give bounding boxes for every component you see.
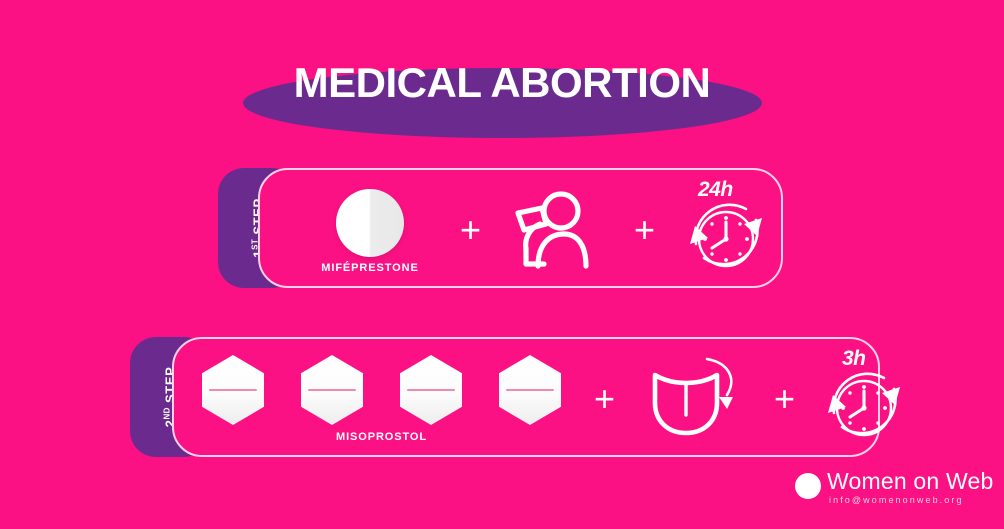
pill-score-line xyxy=(506,389,554,391)
step-2-plus-1: + xyxy=(594,381,615,417)
wait-label-3h: 3h xyxy=(842,347,866,371)
misoprostol-label: MISOPROSTOL xyxy=(202,431,561,443)
logo[interactable]: Women on Web info@womenonweb.org xyxy=(795,468,995,516)
misoprostol-pill xyxy=(301,355,363,425)
page-title: MEDICAL ABORTION xyxy=(0,56,1004,110)
step-2-ordinal-suffix: ND xyxy=(162,407,171,419)
pill-score-line xyxy=(209,389,257,391)
wait-label-24h: 24h xyxy=(698,178,733,202)
step-1-plus-1: + xyxy=(460,212,481,248)
circle-dot-icon xyxy=(795,473,821,499)
misoprostol-pill xyxy=(499,355,561,425)
step-row-1: 1ST STEP MIFÉPRESTONE + xyxy=(218,168,788,288)
mifepristone-pill xyxy=(336,189,404,257)
pill-score-line xyxy=(308,389,356,391)
step-2-plus-2: + xyxy=(774,381,795,417)
step-2-card: MISOPROSTOL + + xyxy=(172,337,880,457)
step-1-plus-2: + xyxy=(634,212,655,248)
pill-score-line xyxy=(407,389,455,391)
step-1-card: MIFÉPRESTONE + + xyxy=(258,168,783,288)
tongue-sublingual-icon xyxy=(641,353,751,443)
misoprostol-pill xyxy=(202,355,264,425)
mifepristone-label: MIFÉPRESTONE xyxy=(308,262,432,274)
logo-email: info@womenonweb.org xyxy=(829,495,964,505)
step-row-2: 2ND STEP MISOPROSTOL + xyxy=(130,337,885,457)
infographic-poster: MEDICAL ABORTION 1ST STEP MIFÉPRESTONE + xyxy=(0,0,1004,529)
person-swallowing-pill-with-water-icon xyxy=(508,190,598,272)
misoprostol-pill xyxy=(400,355,462,425)
clock-with-arrows-icon-3h: 3h xyxy=(816,351,912,447)
logo-name: Women on Web xyxy=(827,468,993,495)
clock-with-arrows-icon-24h: 24h xyxy=(678,182,774,278)
